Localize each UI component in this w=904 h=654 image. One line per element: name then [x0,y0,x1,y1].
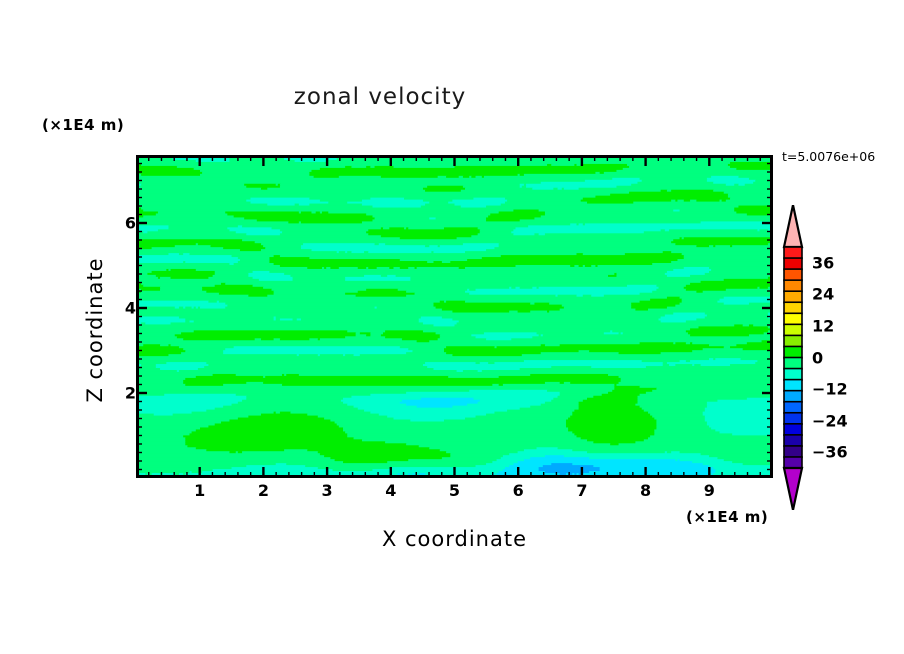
x-tick-label: 2 [258,481,269,500]
y-axis-label: Z coordinate [83,210,107,450]
x-tick-label: 4 [385,481,396,500]
contour-canvas [139,158,770,475]
x-tick-label: 9 [704,481,715,500]
colorbar-tick-label: 12 [812,316,834,335]
x-axis-unit-label: (×1E4 m) [686,508,768,526]
colorbar-tick-label: −24 [812,411,848,430]
colorbar-tick-label: 36 [812,253,834,272]
colorbar-tick-label: 24 [812,285,834,304]
colorbar-tick-label: −12 [812,380,848,399]
x-axis-label: X coordinate [136,527,773,551]
x-tick-label: 6 [513,481,524,500]
x-tick-label: 1 [194,481,205,500]
x-tick-label: 3 [322,481,333,500]
x-tick-label: 8 [640,481,651,500]
figure-root: zonal velocity (×1E4 m) t=5.0076e+06 X c… [0,0,904,654]
colorbar-tick-label: −36 [812,443,848,462]
colorbar-tick-label: 0 [812,348,823,367]
x-tick-label: 7 [576,481,587,500]
colorbar[interactable] [779,205,807,510]
x-tick-label: 5 [449,481,460,500]
page-title: zonal velocity [0,84,760,110]
contour-plot-area [136,155,773,478]
y-axis-unit-label: (×1E4 m) [42,116,124,134]
y-tick-label: 6 [122,214,136,233]
timestamp-annotation: t=5.0076e+06 [782,149,875,164]
y-tick-label: 2 [122,384,136,403]
y-tick-label: 4 [122,299,136,318]
